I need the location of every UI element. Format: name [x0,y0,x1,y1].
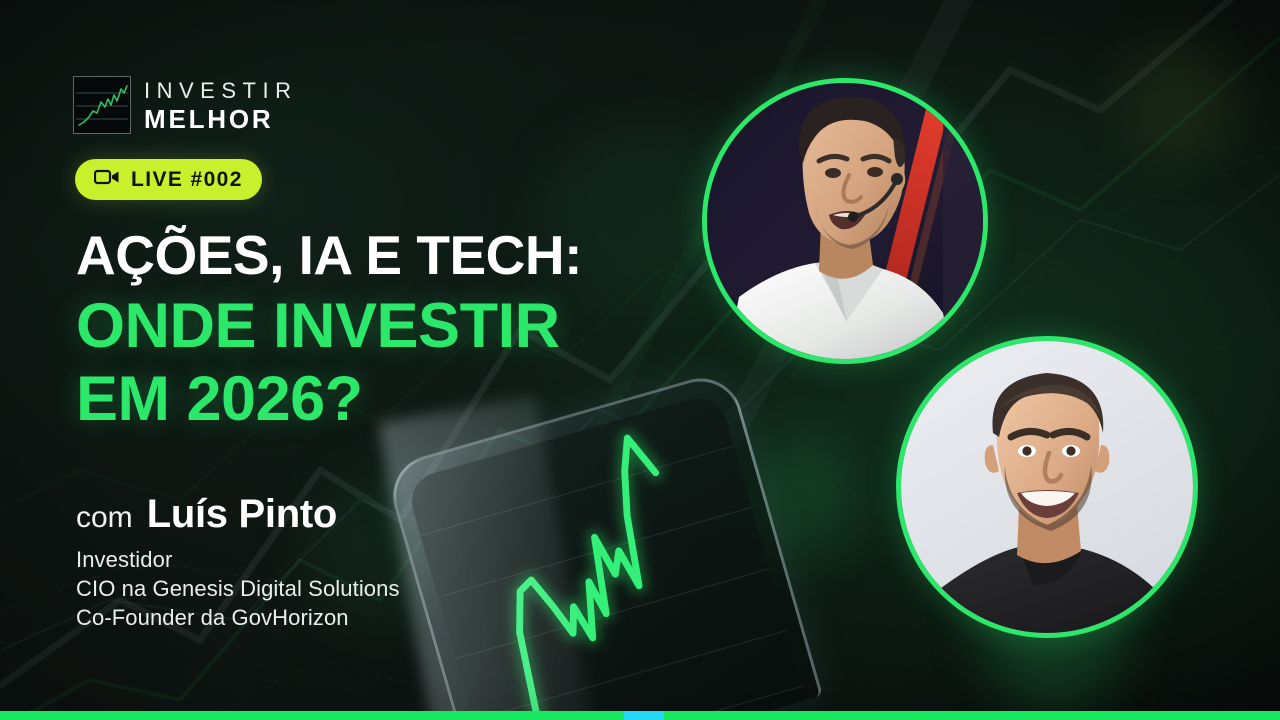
headline-line-1: AÇÕES, IA E TECH: [76,228,736,283]
speaker-credential: Investidor [76,545,596,574]
bottom-accent-bar [0,711,1280,720]
live-badge-label: LIVE #002 [131,168,243,192]
video-camera-icon [94,168,120,191]
chart-square-icon [73,76,131,134]
avatar [901,341,1193,633]
avatar [707,83,983,359]
speaker-block: com Luís Pinto Investidor CIO na Genesis… [76,492,596,632]
page-title: AÇÕES, IA E TECH: ONDE INVESTIR EM 2026? [76,228,736,441]
speaker-credential: Co-Founder da GovHorizon [76,603,596,632]
brand-name-top: INVESTIR [144,80,297,102]
headline-line-2: ONDE INVESTIR [76,295,736,358]
headline-line-3: EM 2026? [76,368,736,431]
brand-wordmark: INVESTIR MELHOR [144,78,297,132]
brand-name-bottom: MELHOR [144,106,297,132]
speaker-photo-stage [702,78,988,364]
live-badge[interactable]: LIVE #002 [75,159,262,200]
speaker-headline: com Luís Pinto [76,492,596,537]
brand-logo[interactable]: INVESTIR MELHOR [73,76,297,134]
speaker-photo-studio [896,336,1198,638]
bottom-accent-bar-highlight [624,711,664,720]
speaker-prefix: com [76,501,133,535]
speaker-name: Luís Pinto [147,492,337,537]
speaker-credential: CIO na Genesis Digital Solutions [76,574,596,603]
live-announcement-banner: INVESTIR MELHOR LIVE #002 AÇÕES, IA E TE… [0,0,1280,720]
